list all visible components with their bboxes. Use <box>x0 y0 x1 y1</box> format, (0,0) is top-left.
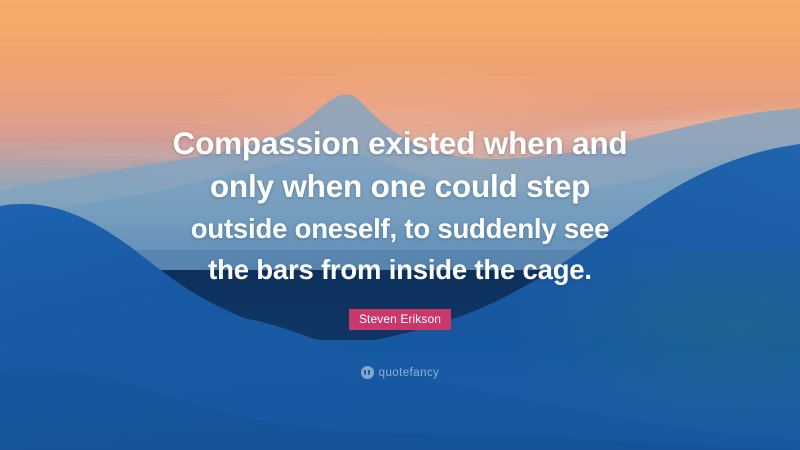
quote-line-2: only when one could step <box>210 165 590 208</box>
quote-content: Compassion existed when and only when on… <box>0 0 800 450</box>
quote-line-1: Compassion existed when and <box>173 122 628 165</box>
author-badge[interactable]: Steven Erikson <box>349 309 451 330</box>
quotefancy-watermark[interactable]: quotefancy <box>0 366 800 379</box>
watermark-brand-label: quotefancy <box>379 367 440 379</box>
quote-line-4: the bars from inside the cage. <box>208 249 592 290</box>
quote-card: Compassion existed when and only when on… <box>0 0 800 450</box>
quote-mark-circle-icon <box>361 366 374 379</box>
quote-line-3: outside oneself, to suddenly see <box>191 208 609 249</box>
